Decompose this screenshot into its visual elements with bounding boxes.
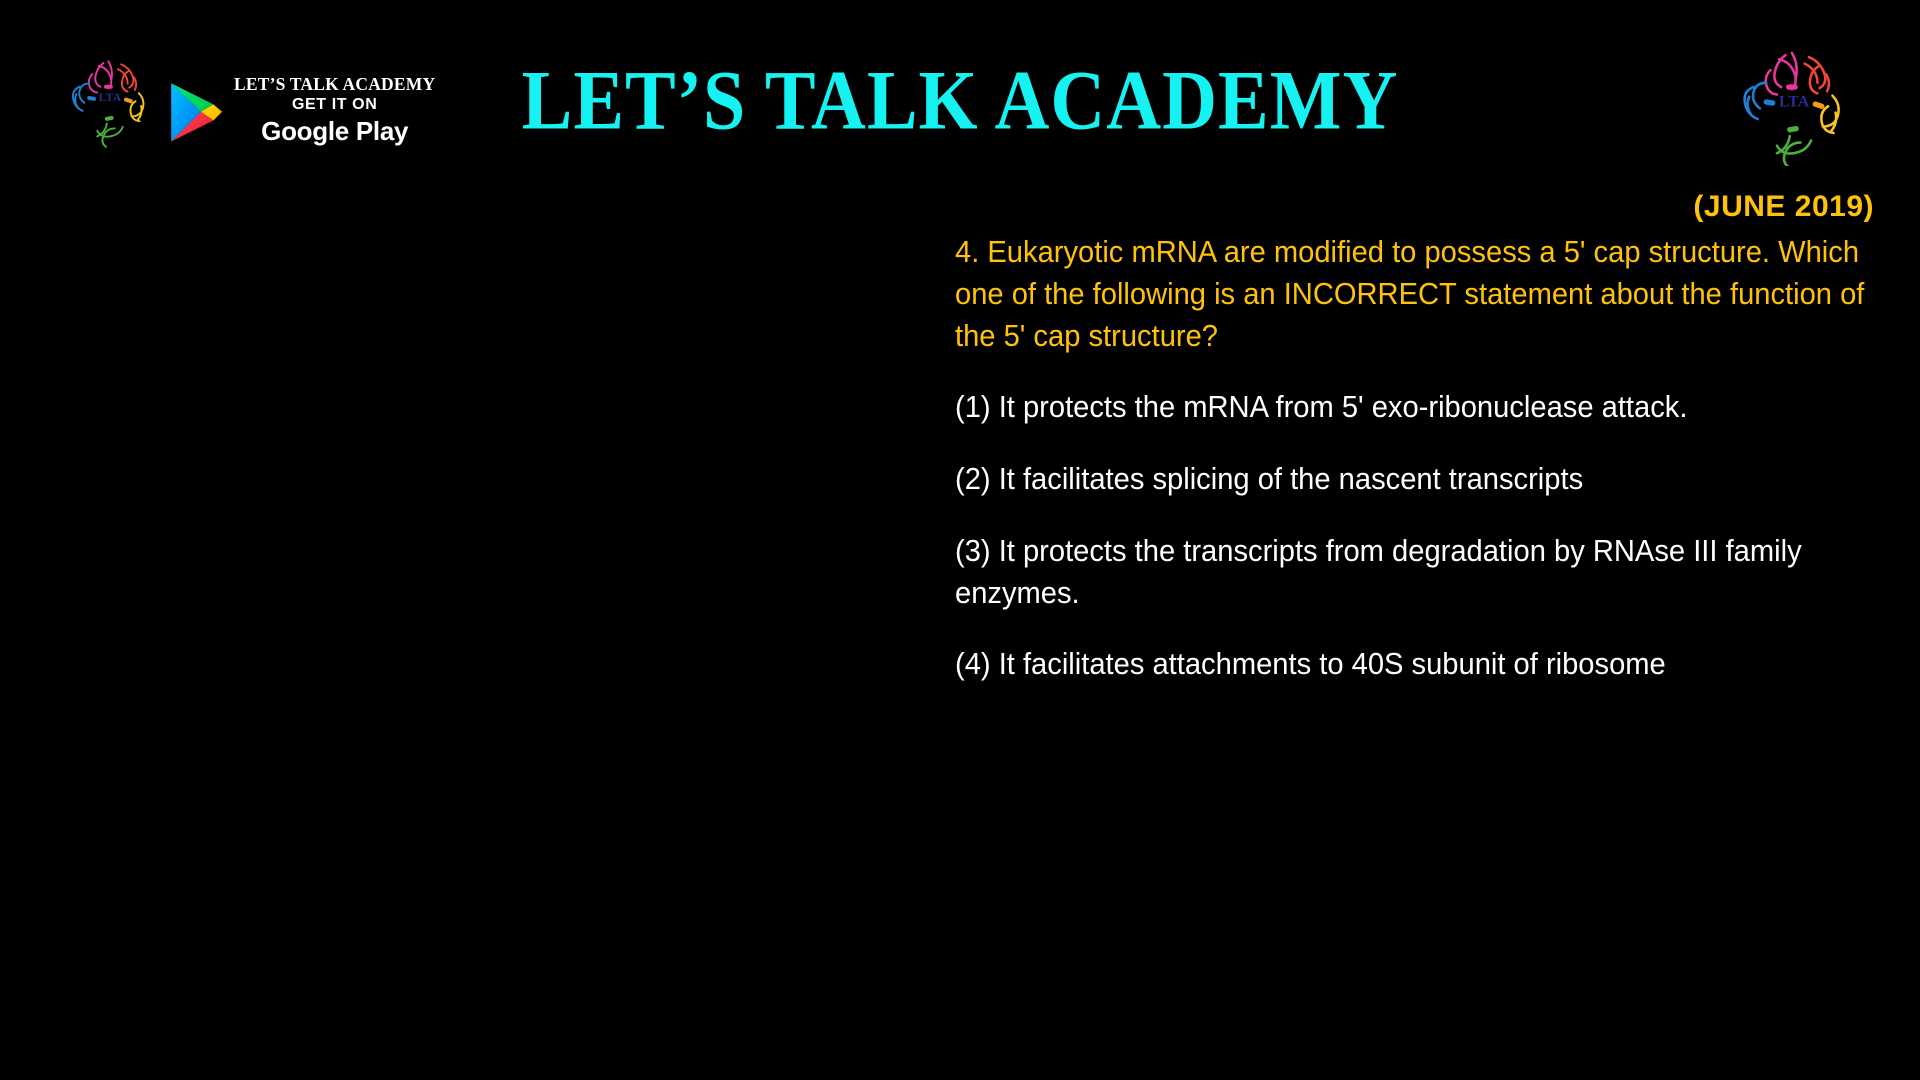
answer-option-2[interactable]: (2) It facilitates splicing of the nasce… [955,459,1885,501]
question-block: 4. Eukaryotic mRNA are modified to posse… [955,232,1885,686]
slide-canvas: LTA [0,0,1920,1080]
question-stem: 4. Eukaryotic mRNA are modified to posse… [955,232,1885,357]
answer-option-3[interactable]: (3) It protects the transcripts from deg… [955,531,1885,615]
answer-option-4[interactable]: (4) It facilitates attachments to 40S su… [955,644,1885,686]
answer-options-list: (1) It protects the mRNA from 5' exo-rib… [955,387,1885,686]
page-title: LET’S TALK ACADEMY [0,58,1920,143]
answer-option-1[interactable]: (1) It protects the mRNA from 5' exo-rib… [955,387,1885,429]
slide-header: LTA [0,0,1920,180]
lta-protein-ribbon-logo-right: LTA [1730,38,1858,166]
lta-logo-center-text: LTA [1779,93,1810,110]
exam-session-tag: (JUNE 2019) [1693,190,1874,224]
